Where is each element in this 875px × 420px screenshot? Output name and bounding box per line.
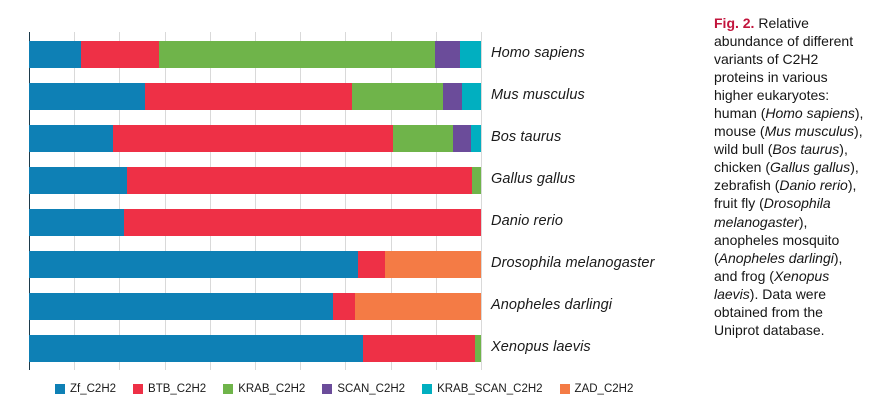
- legend-item[interactable]: SCAN_C2H2: [322, 383, 405, 395]
- species-label: Drosophila melanogaster: [491, 255, 655, 271]
- bar-row: [29, 209, 481, 236]
- bar-segment-zf-c2h2: [29, 251, 358, 278]
- caption-species-name: Anopheles darlingi: [719, 250, 834, 266]
- bar-segment-krab-c2h2: [472, 167, 481, 194]
- figure-caption: Fig. 2. Relative abundance of different …: [714, 14, 866, 339]
- legend-item[interactable]: ZAD_C2H2: [560, 383, 634, 395]
- species-label: Bos taurus: [491, 129, 561, 145]
- bar-segment-zf-c2h2: [29, 209, 124, 236]
- legend-label: SCAN_C2H2: [337, 383, 405, 395]
- bar-segment-scan-c2h2: [435, 41, 460, 68]
- bar-segment-krab-scan-c2h2: [462, 83, 481, 110]
- bar-segment-krab-c2h2: [352, 83, 443, 110]
- bar-row: [29, 41, 481, 68]
- bar-segment-krab-c2h2: [475, 335, 481, 362]
- bar-segment-zf-c2h2: [29, 41, 81, 68]
- bar-segment-scan-c2h2: [453, 125, 471, 152]
- chart-legend: Zf_C2H2BTB_C2H2KRAB_C2H2SCAN_C2H2KRAB_SC…: [55, 383, 633, 395]
- caption-species-name: Danio rerio: [779, 177, 847, 193]
- bar-segment-btb-c2h2: [113, 125, 393, 152]
- species-label: Gallus gallus: [491, 171, 575, 187]
- species-label: Mus musculus: [491, 87, 585, 103]
- bar-segment-btb-c2h2: [127, 167, 472, 194]
- chart-panel: Zf_C2H2BTB_C2H2KRAB_C2H2SCAN_C2H2KRAB_SC…: [0, 0, 706, 420]
- figure-label: Fig. 2.: [714, 15, 754, 31]
- bar-row: [29, 83, 481, 110]
- bar-segment-zad-c2h2: [355, 293, 481, 320]
- legend-item[interactable]: KRAB_C2H2: [223, 383, 305, 395]
- legend-swatch-icon: [223, 384, 233, 394]
- legend-item[interactable]: KRAB_SCAN_C2H2: [422, 383, 542, 395]
- bar-segment-zf-c2h2: [29, 335, 363, 362]
- species-label: Danio rerio: [491, 213, 563, 229]
- legend-swatch-icon: [322, 384, 332, 394]
- caption-species-name: Mus musculus: [765, 123, 854, 139]
- bar-row: [29, 125, 481, 152]
- bar-segment-zf-c2h2: [29, 125, 113, 152]
- legend-item[interactable]: BTB_C2H2: [133, 383, 206, 395]
- legend-label: KRAB_C2H2: [238, 383, 305, 395]
- legend-swatch-icon: [133, 384, 143, 394]
- bar-segment-btb-c2h2: [124, 209, 481, 236]
- gridline: [481, 32, 482, 370]
- legend-label: BTB_C2H2: [148, 383, 206, 395]
- bar-segment-krab-scan-c2h2: [460, 41, 481, 68]
- stacked-bar-chart: [29, 32, 481, 370]
- legend-label: ZAD_C2H2: [575, 383, 634, 395]
- caption-species-name: Gallus gallus: [770, 159, 850, 175]
- bar-segment-btb-c2h2: [358, 251, 385, 278]
- species-label: Homo sapiens: [491, 45, 585, 61]
- bar-segment-scan-c2h2: [443, 83, 462, 110]
- species-label: Anopheles darlingi: [491, 297, 612, 313]
- legend-label: KRAB_SCAN_C2H2: [437, 383, 542, 395]
- bar-segment-btb-c2h2: [363, 335, 475, 362]
- bar-row: [29, 251, 481, 278]
- caption-species-name: Bos taurus: [772, 141, 839, 157]
- legend-label: Zf_C2H2: [70, 383, 116, 395]
- bar-segment-btb-c2h2: [81, 41, 159, 68]
- bar-row: [29, 335, 481, 362]
- bar-segment-zad-c2h2: [385, 251, 481, 278]
- bar-segment-btb-c2h2: [333, 293, 355, 320]
- bar-row: [29, 167, 481, 194]
- bar-segment-zf-c2h2: [29, 167, 127, 194]
- legend-swatch-icon: [560, 384, 570, 394]
- bar-segment-krab-c2h2: [393, 125, 453, 152]
- figure-caption-text: Relative abundance of different variants…: [714, 15, 863, 338]
- legend-item[interactable]: Zf_C2H2: [55, 383, 116, 395]
- bar-segment-zf-c2h2: [29, 83, 145, 110]
- bar-segment-krab-c2h2: [159, 41, 435, 68]
- legend-swatch-icon: [55, 384, 65, 394]
- bar-row: [29, 293, 481, 320]
- species-label: Xenopus laevis: [491, 339, 591, 355]
- panel-divider: [706, 0, 707, 420]
- bar-segment-krab-scan-c2h2: [471, 125, 480, 152]
- figure-container: Zf_C2H2BTB_C2H2KRAB_C2H2SCAN_C2H2KRAB_SC…: [0, 0, 875, 420]
- bar-segment-btb-c2h2: [145, 83, 352, 110]
- caption-species-name: Homo sapiens: [765, 105, 855, 121]
- bar-segment-zf-c2h2: [29, 293, 333, 320]
- legend-swatch-icon: [422, 384, 432, 394]
